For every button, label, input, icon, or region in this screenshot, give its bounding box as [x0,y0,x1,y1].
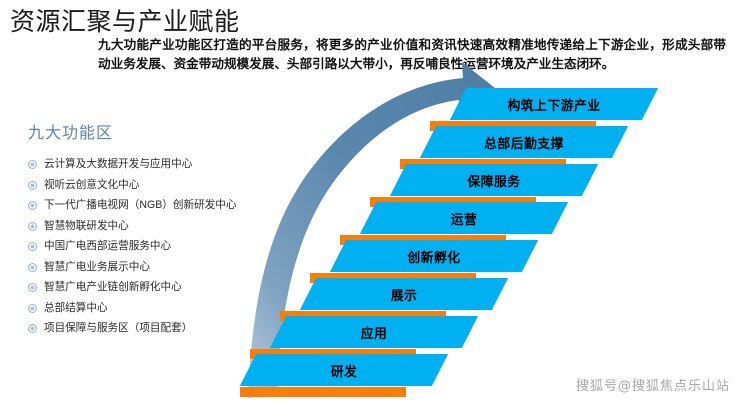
upward-growth-arrow [0,0,740,406]
watermark: 搜狐号@搜狐焦点乐山站 [576,375,730,394]
slide-canvas: 资源汇聚与产业赋能 九大功能产业功能区打造的平台服务，将更多的产业价值和资讯快速… [0,0,740,406]
